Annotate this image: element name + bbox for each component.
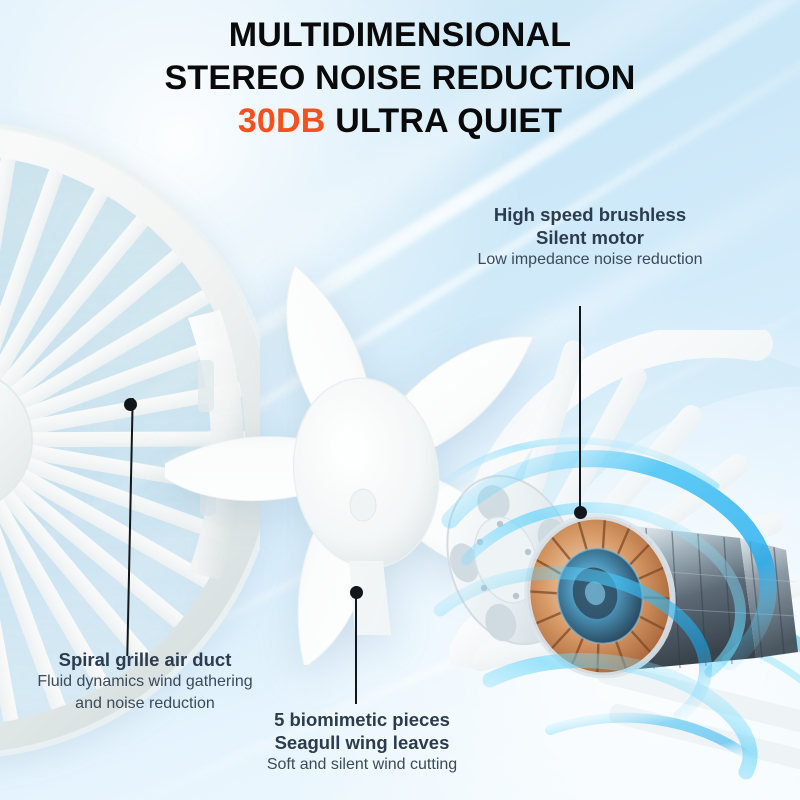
leader-dot: [350, 586, 363, 599]
product-infographic: A49: [0, 0, 800, 800]
leader-stem: [579, 306, 581, 512]
callout-blades-title-2: Seagull wing leaves: [222, 731, 502, 754]
callout-motor-title-2: Silent motor: [430, 226, 750, 249]
callout-motor: High speed brushless Silent motor Low im…: [430, 203, 750, 271]
headline-line-1: MULTIDIMENSIONAL: [0, 14, 800, 57]
headline-line-2: STEREO NOISE REDUCTION: [0, 57, 800, 100]
headline-accent-30db: 30DB: [238, 102, 326, 140]
leader-dot: [124, 398, 137, 411]
callout-blades: 5 biomimetic pieces Seagull wing leaves …: [222, 708, 502, 776]
callout-motor-subtitle: Low impedance noise reduction: [430, 249, 750, 271]
leader-stem: [355, 586, 357, 704]
callout-blades-subtitle: Soft and silent wind cutting: [222, 754, 502, 776]
callout-grille-title-1: Spiral grille air duct: [0, 648, 290, 671]
callout-grille: Spiral grille air duct Fluid dynamics wi…: [0, 648, 290, 715]
callout-motor-title-1: High speed brushless: [430, 203, 750, 226]
leader-dot: [574, 506, 587, 519]
headline: MULTIDIMENSIONAL STEREO NOISE REDUCTION …: [0, 14, 800, 143]
callout-blades-title-1: 5 biomimetic pieces: [222, 708, 502, 731]
callout-grille-subtitle-1: Fluid dynamics wind gathering: [0, 671, 290, 693]
headline-line-3-rest: ULTRA QUIET: [326, 102, 563, 140]
headline-line-3: 30DB ULTRA QUIET: [0, 100, 800, 143]
